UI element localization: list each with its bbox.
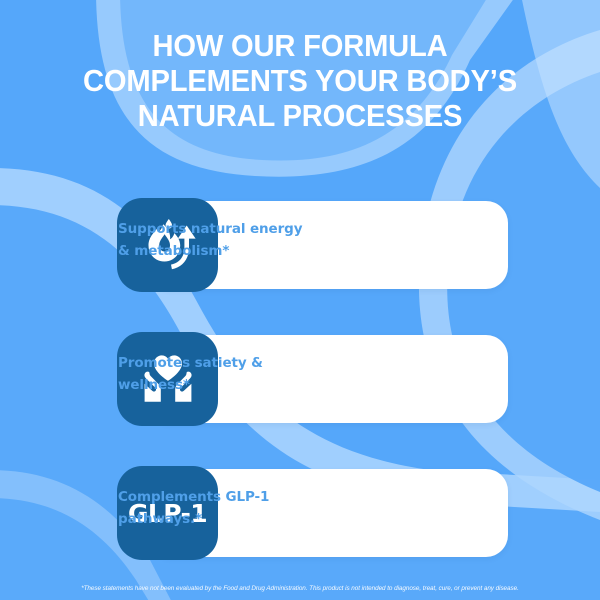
list-item[interactable]: Supports natural energy & metabolism* [0,198,600,292]
promotional-poster: HOW OUR FORMULA COMPLEMENTS YOUR BODY’S … [0,0,600,600]
list-item[interactable]: Promotes satiety & wellness* [0,332,600,426]
list-item-label: Complements GLP-1 pathways.* [118,486,343,530]
list-item-label: Promotes satiety & wellness* [118,352,343,396]
page-title: HOW OUR FORMULA COMPLEMENTS YOUR BODY’S … [63,28,537,133]
legal-disclaimer: *These statements have not been evaluate… [3,584,597,594]
list-item-label: Supports natural energy & metabolism* [118,218,343,262]
list-item[interactable]: GLP-1 Complements GLP-1 pathways.* [0,466,600,560]
benefits-list: Supports natural energy & metabolism* P [0,198,600,560]
